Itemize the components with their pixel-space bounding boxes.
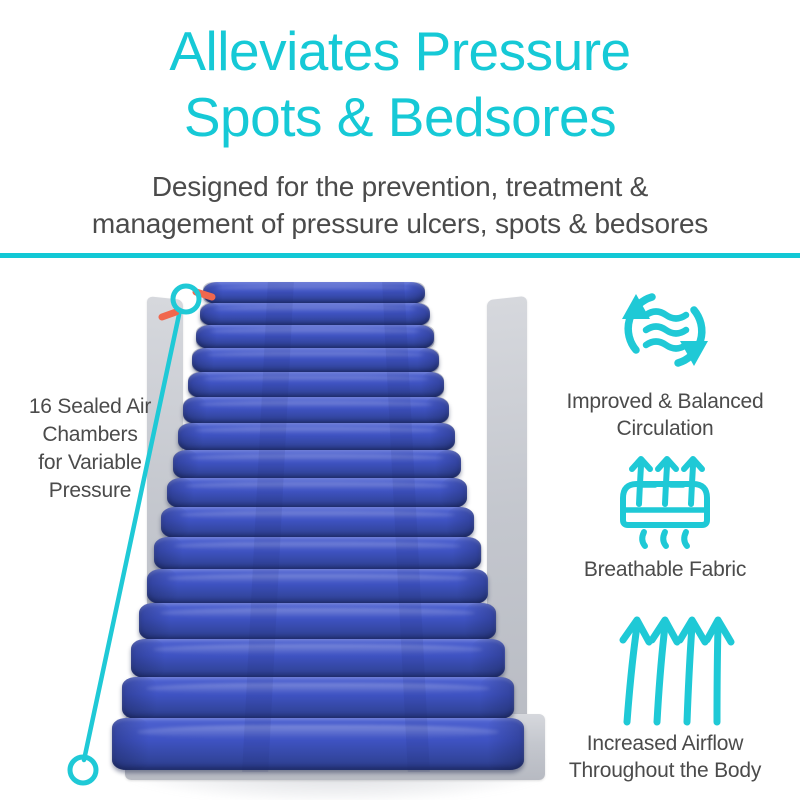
- page-subtitle-line-1: Designed for the prevention, treatment &: [152, 171, 648, 202]
- feature-breathable: Breathable Fabric: [530, 452, 800, 583]
- air-chamber-tube: [203, 282, 425, 304]
- air-chamber-tube: [131, 639, 505, 678]
- callout-label-line-4: Pressure: [49, 479, 131, 502]
- feature-circulation: Improved & Balanced Circulation: [530, 278, 800, 442]
- air-chamber-tube: [147, 569, 488, 604]
- feature-label: Increased Airflow Throughout the Body: [530, 730, 800, 784]
- air-chamber-tube: [183, 397, 449, 424]
- air-chamber-tube: [167, 478, 467, 508]
- air-chamber-tube: [122, 677, 514, 719]
- feature-label-line-1: Breathable Fabric: [584, 558, 746, 581]
- feature-label-line-2: Throughout the Body: [569, 759, 761, 782]
- feature-airflow: Increased Airflow Throughout the Body: [530, 608, 800, 784]
- air-chamber-tube: [139, 603, 496, 640]
- air-chamber-tube: [200, 303, 430, 326]
- header-divider: [0, 253, 800, 258]
- air-chamber-tube: [196, 325, 434, 349]
- four-up-arrows-icon: [595, 608, 735, 728]
- air-chamber-tube: [173, 450, 461, 479]
- air-chamber-tube: [161, 507, 474, 538]
- callout-label-line-2: Chambers: [42, 423, 137, 446]
- feature-label-line-1: Improved & Balanced: [567, 390, 764, 413]
- callout-label-line-1: 16 Sealed Air: [29, 395, 151, 418]
- air-chamber-tube: [192, 348, 439, 373]
- infographic-page: Alleviates Pressure Spots & Bedsores Des…: [0, 0, 800, 800]
- feature-label-line-1: Increased Airflow: [587, 732, 744, 755]
- callout-label-line-3: for Variable: [38, 451, 141, 474]
- feature-label: Improved & Balanced Circulation: [530, 388, 800, 442]
- feature-label: Breathable Fabric: [530, 556, 800, 583]
- air-chamber-tube: [178, 423, 455, 451]
- header-section: Alleviates Pressure Spots & Bedsores Des…: [0, 0, 800, 256]
- callout-marker-bottom: [70, 757, 96, 783]
- air-chamber-tube: [154, 537, 481, 570]
- callout-label: 16 Sealed Air Chambers for Variable Pres…: [10, 393, 170, 505]
- page-subtitle-line-2: management of pressure ulcers, spots & b…: [92, 208, 708, 239]
- page-title-line-2: Spots & Bedsores: [0, 84, 800, 150]
- air-chamber-tube: [112, 718, 524, 770]
- air-chamber-tube: [188, 372, 444, 398]
- page-title: Alleviates Pressure Spots & Bedsores: [0, 18, 800, 150]
- circular-arrows-airflow-icon: [600, 278, 730, 382]
- product-image: [95, 262, 575, 800]
- page-title-line-1: Alleviates Pressure: [169, 20, 630, 82]
- mattress-breathable-arrows-icon: [601, 452, 729, 552]
- page-subtitle: Designed for the prevention, treatment &…: [10, 168, 790, 242]
- feature-label-line-2: Circulation: [616, 417, 713, 440]
